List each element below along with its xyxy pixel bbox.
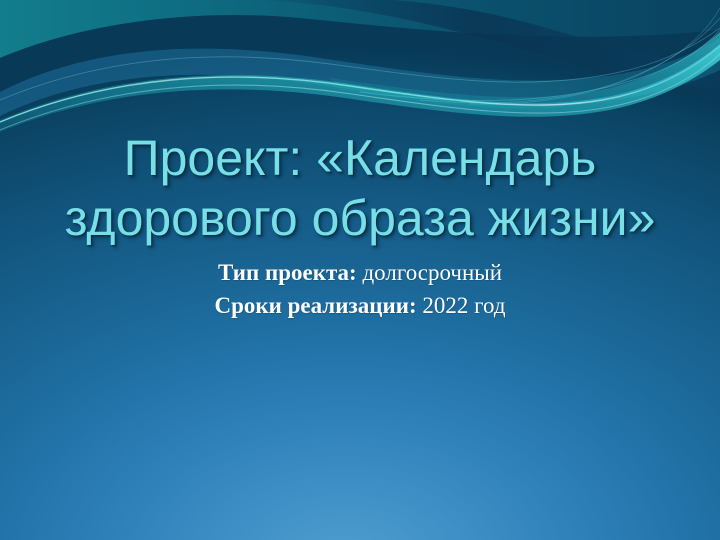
slide-title: Проект: «Календарь здорового образа жизн… [0, 128, 720, 248]
slide-title-line-2: здорового образа жизни» [0, 188, 720, 248]
subtitle-line-timeframe: Сроки реализации: 2022 год [0, 289, 720, 322]
project-type-label: Тип проекта: [218, 260, 357, 285]
slide-subtitle: Тип проекта: долгосрочный Сроки реализац… [0, 256, 720, 322]
title-slide: Проект: «Календарь здорового образа жизн… [0, 0, 720, 540]
subtitle-line-project-type: Тип проекта: долгосрочный [0, 256, 720, 289]
slide-title-line-1: Проект: «Календарь [0, 128, 720, 188]
timeframe-value: 2022 год [417, 293, 506, 318]
project-type-value: долгосрочный [357, 260, 502, 285]
timeframe-label: Сроки реализации: [214, 293, 416, 318]
